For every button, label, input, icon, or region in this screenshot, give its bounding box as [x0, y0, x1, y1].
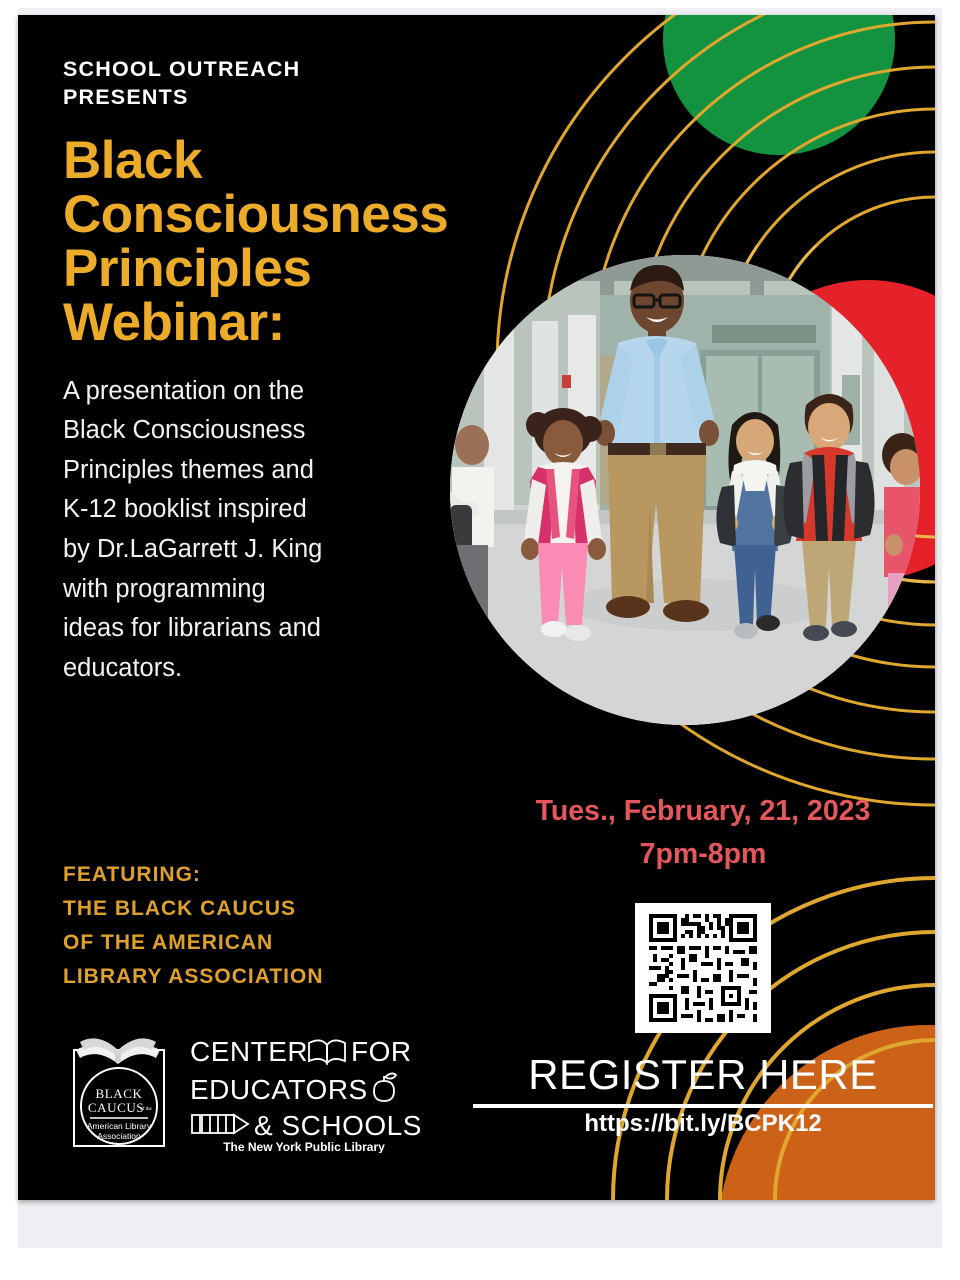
svg-text:CAUCUS: CAUCUS [88, 1100, 144, 1115]
event-photo [450, 255, 920, 725]
center-for-educators-and-schools-logo: CENTER FOR EDUCATORS [188, 1031, 420, 1153]
qr-code-image[interactable] [643, 910, 763, 1026]
page-title: Black Consciousness Principles Webinar: [63, 134, 443, 350]
svg-text:BLACK: BLACK [95, 1086, 142, 1101]
logo-row: BLACK CAUCUS of the American Library Ass… [66, 1028, 420, 1156]
green-circle-decoration [663, 15, 895, 155]
photo-illustration [450, 255, 920, 725]
svg-text:Association: Association [97, 1131, 141, 1141]
register-url-text[interactable]: https://bit.ly/BCPK12 [473, 1110, 933, 1138]
featuring-block: FEATURING: THE BLACK CAUCUS OF THE AMERI… [63, 858, 324, 994]
poster-description: A presentation on the Black Consciousnes… [63, 372, 443, 688]
event-datetime: Tues., February, 21, 2023 7pm-8pm [473, 790, 933, 877]
svg-text:The New York Public Library: The New York Public Library [223, 1140, 385, 1153]
event-poster: SCHOOL OUTREACH PRESENTS Black Conscious… [18, 15, 935, 1200]
screenshot-root: SCHOOL OUTREACH PRESENTS Black Conscious… [0, 0, 960, 1280]
svg-text:of the: of the [140, 1107, 152, 1112]
svg-text:CENTER: CENTER [190, 1036, 308, 1067]
svg-text:& SCHOOLS: & SCHOOLS [254, 1110, 420, 1141]
black-caucus-ala-logo: BLACK CAUCUS of the American Library Ass… [66, 1028, 172, 1156]
register-here-link[interactable]: REGISTER HERE [473, 1051, 933, 1108]
svg-text:American Library: American Library [87, 1121, 152, 1131]
poster-kicker: SCHOOL OUTREACH PRESENTS [63, 55, 443, 112]
svg-text:FOR: FOR [351, 1036, 412, 1067]
svg-text:EDUCATORS: EDUCATORS [190, 1074, 368, 1105]
poster-left-column: SCHOOL OUTREACH PRESENTS Black Conscious… [63, 55, 443, 688]
qr-code[interactable] [635, 903, 771, 1033]
